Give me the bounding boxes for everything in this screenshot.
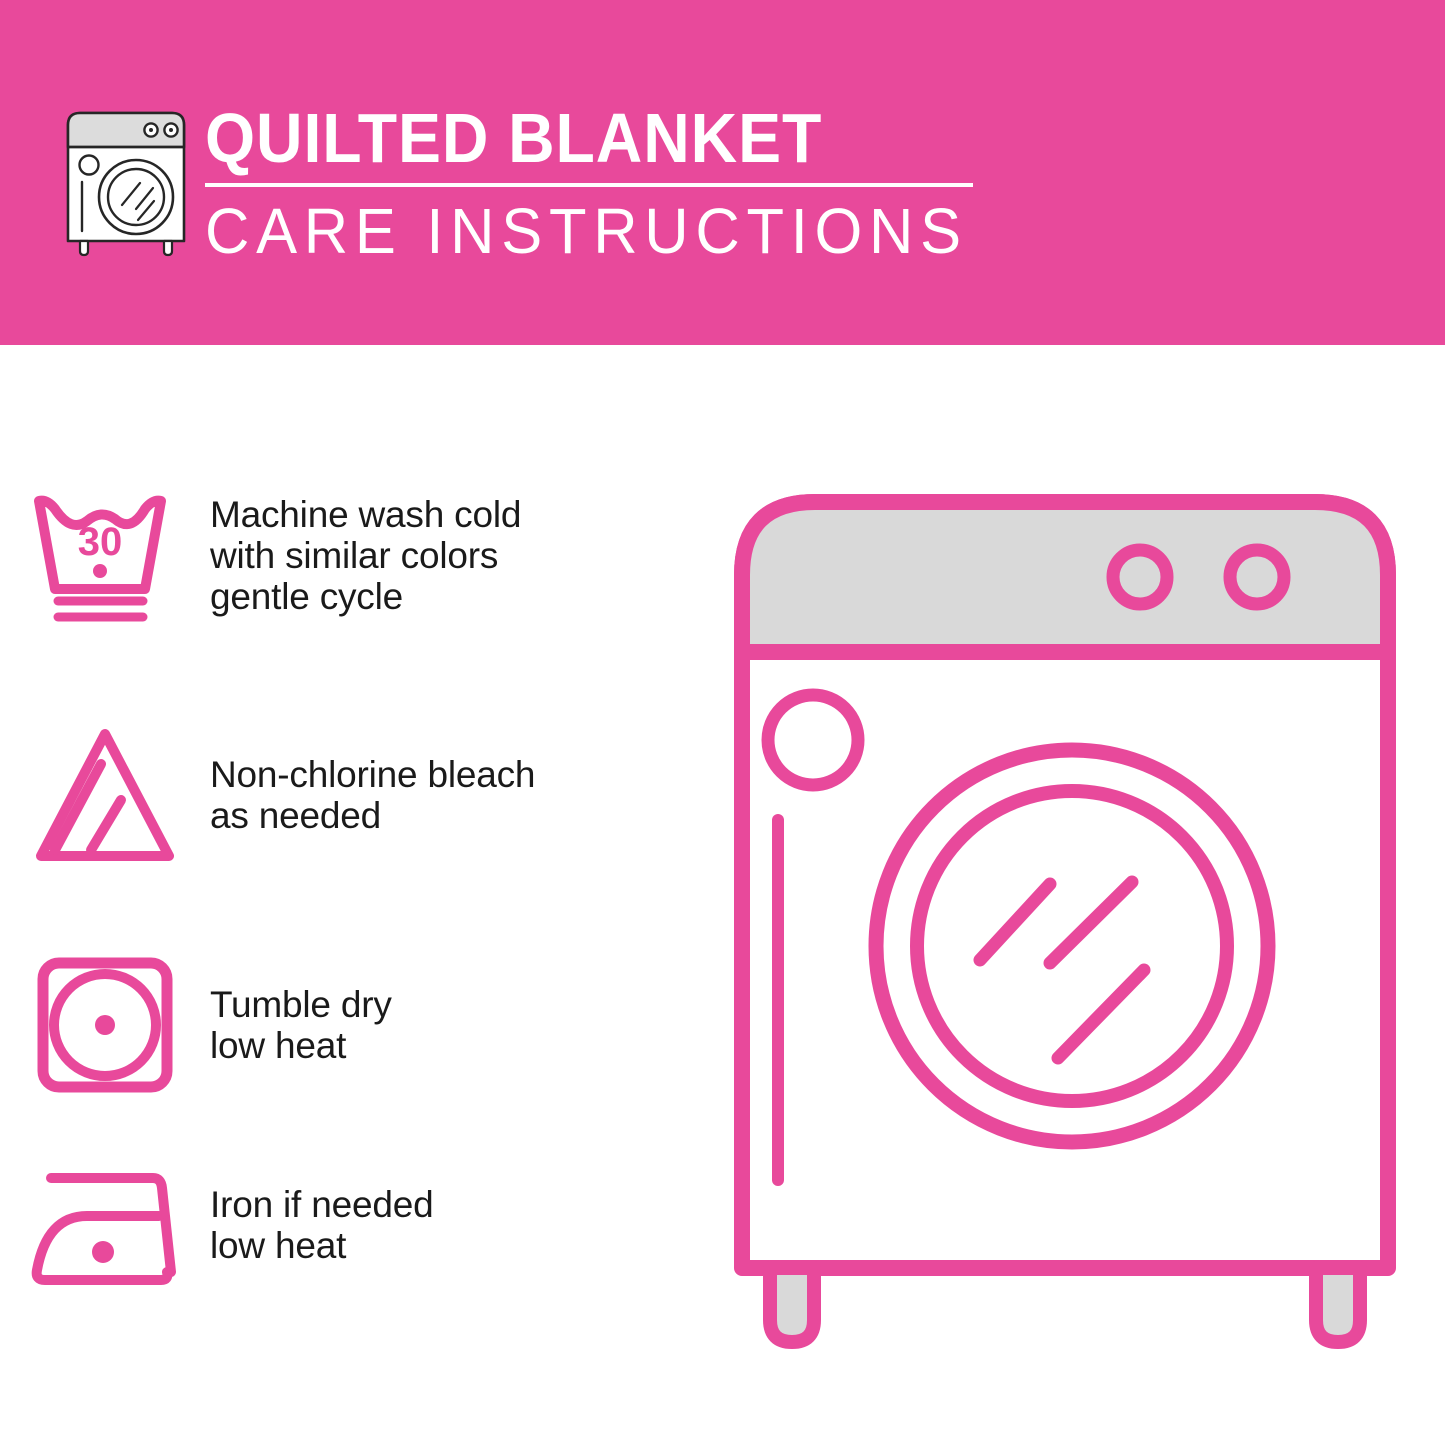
washing-machine-icon — [58, 103, 194, 257]
care-label-tumble-dry: Tumble dry low heat — [210, 984, 700, 1066]
care-label-line: gentle cycle — [210, 576, 700, 617]
knob-left — [1113, 550, 1167, 604]
care-row-tumble-dry: Tumble dry low heat — [0, 950, 700, 1100]
care-label-line: Tumble dry — [210, 984, 700, 1025]
care-instructions-infographic: QUILTED BLANKET CARE INSTRUCTIONS 30 — [0, 0, 1445, 1445]
title-divider — [205, 183, 973, 187]
care-label-machine-wash: Machine wash cold with similar colors ge… — [210, 494, 700, 617]
care-label-bleach: Non-chlorine bleach as needed — [210, 754, 700, 836]
page-subtitle: CARE INSTRUCTIONS — [205, 196, 963, 266]
care-label-line: low heat — [210, 1225, 700, 1266]
door-latch — [768, 695, 858, 785]
header-banner: QUILTED BLANKET CARE INSTRUCTIONS — [0, 0, 1445, 345]
non-chlorine-bleach-triangle-icon — [0, 720, 210, 870]
care-label-line: Non-chlorine bleach — [210, 754, 700, 795]
care-row-iron: Iron if needed low heat — [0, 1160, 700, 1290]
iron-low-heat-icon — [0, 1160, 210, 1290]
care-row-machine-wash: 30 Machine wash cold with similar colors… — [0, 485, 700, 625]
front-load-washing-machine-illustration — [720, 480, 1410, 1370]
page-title: QUILTED BLANKET — [205, 100, 932, 176]
wash-temperature-label: 30 — [78, 520, 123, 564]
care-label-line: as needed — [210, 795, 700, 836]
leg-left — [770, 1268, 814, 1342]
leg-right — [1316, 1268, 1360, 1342]
wash-tub-30-gentle-icon: 30 — [0, 485, 210, 625]
care-label-line: Iron if needed — [210, 1184, 700, 1225]
care-label-iron: Iron if needed low heat — [210, 1184, 700, 1266]
tumble-dry-low-icon — [0, 950, 210, 1100]
care-instruction-list: 30 Machine wash cold with similar colors… — [0, 345, 700, 1445]
care-label-line: with similar colors — [210, 535, 700, 576]
care-label-line: Machine wash cold — [210, 494, 700, 535]
care-row-bleach: Non-chlorine bleach as needed — [0, 720, 700, 870]
care-label-line: low heat — [210, 1025, 700, 1066]
title-block: QUILTED BLANKET CARE INSTRUCTIONS — [205, 100, 995, 266]
knob-right — [1230, 550, 1284, 604]
